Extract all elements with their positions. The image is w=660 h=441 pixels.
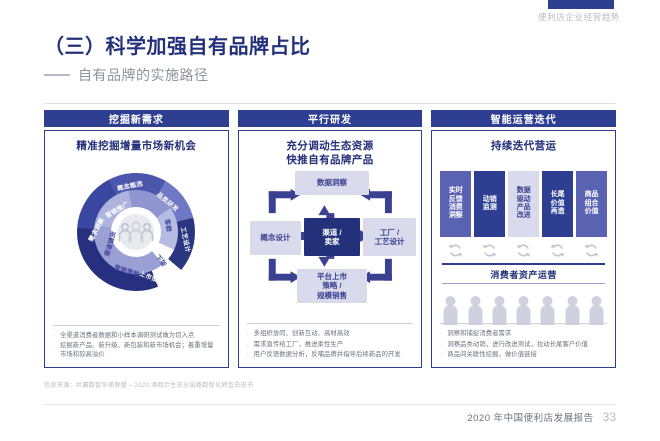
arrow-map-diagram: 数据洞察 概念设计 渠道 / 卖家 工厂 / 工艺设计 平台上市 策略 / 规模… (239, 169, 422, 299)
bullet-item: ·多组织协同、创新互动、高材高效 (247, 329, 414, 338)
refresh-cycle-icon (584, 243, 599, 258)
band-rule-bottom (442, 283, 605, 284)
bullet-item: ·全渠道消费者数据和小样本调研测试做为切入点 (53, 331, 220, 340)
footer-report-title: 2020 年中国便利店发展报告 (467, 410, 593, 424)
bullet-text: 多组织协同、创新互动、高材高效 (254, 329, 350, 338)
bullet-dot: · (440, 329, 447, 338)
page-number: 33 (603, 410, 616, 424)
people-icon (116, 220, 156, 244)
column-header-1: 挖掘新需求 (44, 110, 229, 127)
source-note: 信息来源：共赢数智华美联盟 – 2020 酒商示生态全链路数智化转型白皮书 (44, 380, 253, 389)
page-subtitle: 自有品牌的实施路径 (78, 65, 209, 85)
title-divider (44, 103, 616, 104)
person-icon (564, 295, 581, 325)
refresh-cycle-icon (550, 243, 565, 258)
bullet-list-2: ·多组织协同、创新互动、高材高效 ·需求直传给工厂，推进柔性生产 ·用户反馈数据… (247, 323, 414, 361)
bullet-item: ·商品间关联性挖掘，做价值链接 (440, 350, 607, 359)
person-icon (539, 295, 556, 325)
bullet-divider-2 (247, 323, 414, 324)
bullet-item: ·用户反馈数据分析，反哺品牌并指导后续新品的开发 (247, 350, 414, 359)
node-factory-process: 工厂 / 工艺设计 (363, 218, 416, 256)
node-channel-seller: 渠道 / 卖家 (304, 218, 359, 256)
refresh-cycle-icon (482, 243, 497, 258)
header-accent-bar (548, 0, 614, 9)
iteration-box-5: 商品 组合 价值 (576, 171, 607, 237)
column-parallel-rnd: 平行研发 充分调动生态资源 快推自有品牌产品 C X (238, 110, 423, 368)
iteration-box-4: 长尾 价值 再造 (542, 171, 573, 237)
person-icon (467, 295, 484, 325)
bullet-dot: · (53, 331, 60, 340)
column-header-3: 智能运营迭代 (431, 110, 616, 127)
column-subtitle-3: 持续迭代营运 (432, 139, 615, 153)
person-icon (515, 295, 532, 325)
bullet-text: 全渠道消费者数据和小样本调研测试做为切入点 (60, 331, 194, 340)
column-body-3: 持续迭代营运 实时 反馈 消费 洞察 动销 监测 数据 驱动 产品 改进 长尾 … (431, 130, 616, 368)
title-block: （三）科学加强自有品牌占比 自有品牌的实施路径 (44, 36, 311, 85)
footer-divider (44, 404, 616, 405)
bullet-dot: · (247, 340, 254, 349)
slide-root: 便利店企业经营趋势 （三）科学加强自有品牌占比 自有品牌的实施路径 挖掘新需求 … (0, 0, 660, 441)
bullet-text: 洞察品类动销，进行改进测试，拉动长尾客户价值 (447, 340, 588, 349)
bullet-dot: · (247, 329, 254, 338)
bullet-item: ·需求直传给工厂，推进柔性生产 (247, 340, 414, 349)
column-subtitle-1: 精准挖掘增量市场新机会 (45, 139, 228, 153)
column-body-1: 精准挖掘增量市场新机会 需求洞察 概念甄选 品类研发 工艺设计 上市策略 营销推… (44, 130, 229, 368)
person-icon (491, 295, 508, 325)
bullet-text: 洞察和捕捉消费者需求 (447, 329, 511, 338)
bullet-item: ·挖掘新产品、新升级、新包装和新市场机会；着重增量市场和较高溢价 (53, 341, 220, 359)
iteration-box-1: 实时 反馈 消费 洞察 (440, 171, 471, 237)
bullet-list-3: ·洞察和捕捉消费者需求 ·洞察品类动销，进行改进测试，拉动长尾客户价值 ·商品间… (440, 323, 607, 361)
column-smart-iteration: 智能运营迭代 持续迭代营运 实时 反馈 消费 洞察 动销 监测 数据 驱动 产品… (431, 110, 616, 368)
node-concept-design: 概念设计 (250, 221, 301, 255)
node-platform-launch: 平台上市 策略 / 规模销售 (297, 269, 367, 303)
page-subtitle-row: 自有品牌的实施路径 (44, 65, 311, 85)
bullet-text: 用户反馈数据分析，反哺品牌并指导后续新品的开发 (254, 350, 401, 359)
bullet-dot: · (440, 340, 447, 349)
bullet-divider-3 (440, 323, 607, 324)
footer: 2020 年中国便利店发展报告 33 (467, 410, 616, 424)
bullet-dot: · (440, 350, 447, 359)
bullet-item: ·洞察品类动销，进行改进测试，拉动长尾客户价值 (440, 340, 607, 349)
bullet-list-1: ·全渠道消费者数据和小样本调研测试做为切入点 ·挖掘新产品、新升级、新包装和新市… (53, 325, 220, 361)
iteration-boxes: 实时 反馈 消费 洞察 动销 监测 数据 驱动 产品 改进 长尾 价值 再造 商… (440, 171, 607, 237)
bullet-text: 挖掘新产品、新升级、新包装和新市场机会；着重增量市场和较高溢价 (60, 341, 220, 359)
bullet-dot: · (247, 350, 254, 359)
consumer-asset-band: 消费者资产运营 (442, 263, 605, 284)
page-title: （三）科学加强自有品牌占比 (44, 36, 311, 58)
node-data-insight: 数据洞察 (295, 171, 368, 195)
person-icon (588, 295, 605, 325)
subtitle-dash (44, 74, 70, 76)
refresh-cycle-icon (516, 243, 531, 258)
column-body-2: 充分调动生态资源 快推自有品牌产品 C X (238, 130, 423, 368)
header-kicker: 便利店企业经营趋势 (430, 11, 620, 23)
column-header-2: 平行研发 (238, 110, 423, 127)
band-title: 消费者资产运营 (442, 265, 605, 283)
iteration-box-3: 数据 驱动 产品 改进 (508, 171, 539, 237)
columns-container: 挖掘新需求 精准挖掘增量市场新机会 需求洞察 概念甄选 品类研发 工艺设计 上市… (44, 110, 616, 368)
bullet-item: ·洞察和捕捉消费者需求 (440, 329, 607, 338)
cycle-icon-row (440, 241, 607, 259)
refresh-cycle-icon (448, 243, 463, 258)
people-row (442, 291, 605, 325)
bullet-text: 需求直传给工厂，推进柔性生产 (254, 340, 344, 349)
person-icon (442, 295, 459, 325)
bullet-divider-1 (53, 325, 220, 326)
circle-diagram: 需求洞察 概念甄选 品类研发 工艺设计 上市策略 营销推广 渠道铺货 营销策略 … (45, 173, 228, 291)
column-discover-demand: 挖掘新需求 精准挖掘增量市场新机会 需求洞察 概念甄选 品类研发 工艺设计 上市… (44, 110, 229, 368)
column-subtitle-2: 充分调动生态资源 快推自有品牌产品 (239, 139, 422, 167)
iteration-box-2: 动销 监测 (474, 171, 505, 237)
bullet-dot: · (53, 341, 60, 359)
bullet-text: 商品间关联性挖掘，做价值链接 (447, 350, 537, 359)
